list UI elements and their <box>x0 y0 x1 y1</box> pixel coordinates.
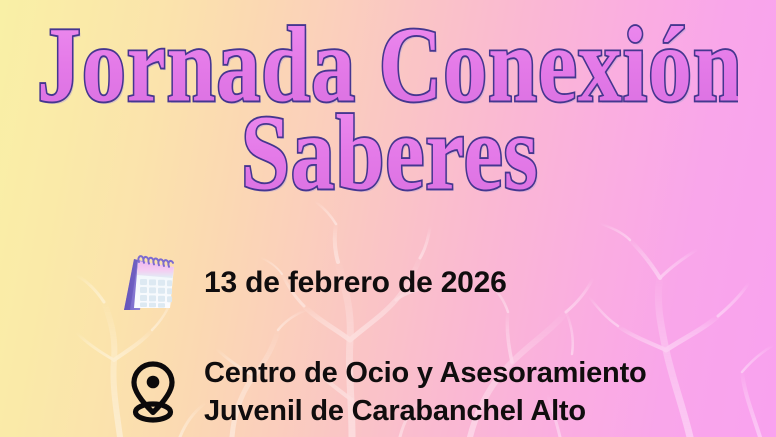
title-line2: Saberes <box>241 95 539 205</box>
venue-row: Centro de Ocio y Asesoramiento Juvenil d… <box>120 346 776 437</box>
poster-title-art: Jornada Conexión Saberes Jornada Conexió… <box>38 20 738 205</box>
date-text-cell: 13 de febrero de 2026 <box>204 266 507 300</box>
venue-text-cell: Centro de Ocio y Asesoramiento Juvenil d… <box>204 354 647 430</box>
poster-title: Jornada Conexión Saberes Jornada Conexió… <box>0 20 776 205</box>
venue-line-1: Centro de Ocio y Asesoramiento <box>204 354 647 392</box>
event-date: 13 de febrero de 2026 <box>204 266 507 300</box>
date-row: 13 de febrero de 2026 <box>108 240 776 326</box>
event-details: 13 de febrero de 2026 Centro de Ocio y A… <box>0 240 776 437</box>
map-pin-icon <box>120 353 186 431</box>
venue-line-2: Juvenil de Carabanchel Alto <box>204 392 647 430</box>
calendar-icon <box>108 244 186 322</box>
event-poster: Jornada Conexión Saberes Jornada Conexió… <box>0 0 776 437</box>
